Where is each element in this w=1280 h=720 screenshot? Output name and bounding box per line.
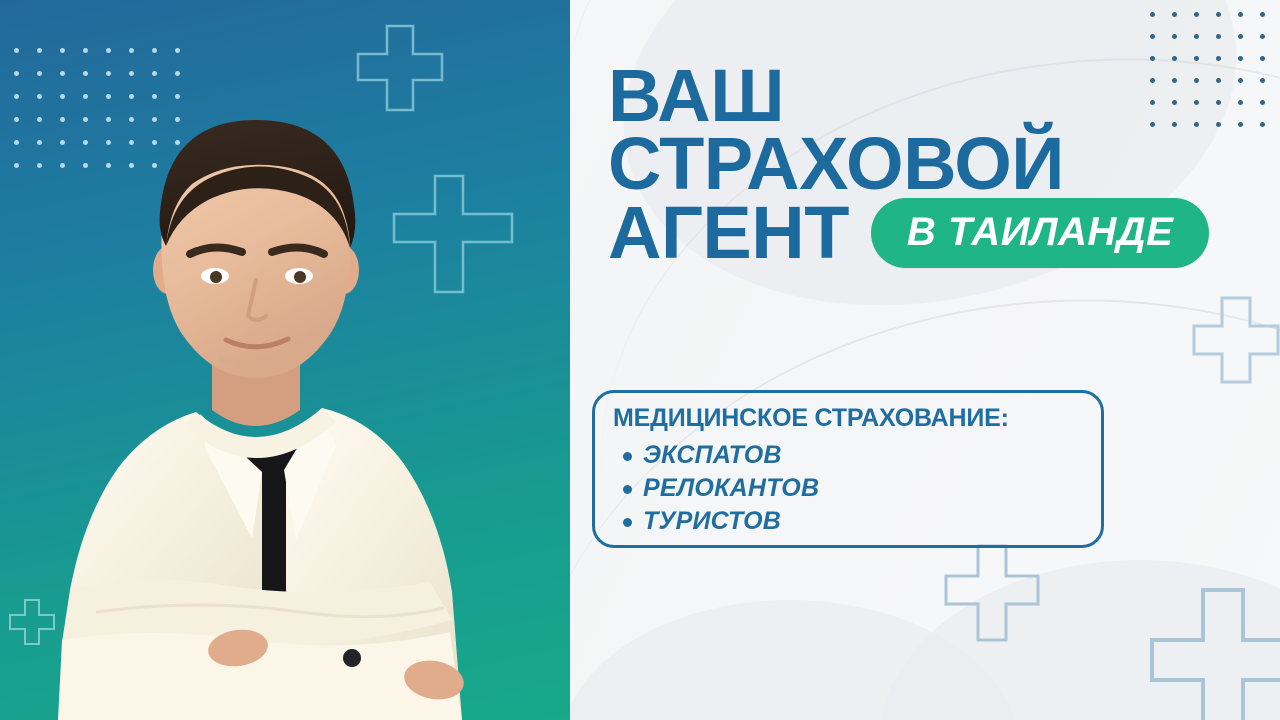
headline-line-3-row: АГЕНТ В ТАИЛАНДЕ xyxy=(608,198,1268,268)
plus-cross-icon xyxy=(942,542,1042,644)
dot xyxy=(1260,34,1265,39)
dot xyxy=(1238,34,1243,39)
dot xyxy=(1150,34,1155,39)
headline: ВАШ СТРАХОВОЙ АГЕНТ В ТАИЛАНДЕ xyxy=(608,62,1268,268)
dot xyxy=(1194,56,1199,61)
dot xyxy=(1194,34,1199,39)
dot xyxy=(1172,56,1177,61)
list-item: ТУРИСТОВ xyxy=(643,505,1083,538)
left-teal-panel xyxy=(0,0,570,720)
insurance-info-box: МЕДИЦИНСКОЕ СТРАХОВАНИЕ: ЭКСПАТОВ РЕЛОКА… xyxy=(592,390,1104,548)
headline-line-2: СТРАХОВОЙ xyxy=(608,130,1268,198)
dot xyxy=(1150,12,1155,17)
headline-line-3: АГЕНТ xyxy=(608,199,849,267)
plus-cross-icon xyxy=(1188,292,1280,388)
dot xyxy=(1216,12,1221,17)
plus-cross-icon xyxy=(1148,586,1280,720)
dot xyxy=(1194,12,1199,17)
insurance-audience-list: ЭКСПАТОВ РЕЛОКАНТОВ ТУРИСТОВ xyxy=(613,439,1083,539)
dot xyxy=(1260,12,1265,17)
agent-figure xyxy=(0,120,570,720)
info-box-title: МЕДИЦИНСКОЕ СТРАХОВАНИЕ: xyxy=(613,405,1083,433)
dot xyxy=(1216,56,1221,61)
dot xyxy=(1238,12,1243,17)
country-badge: В ТАИЛАНДЕ xyxy=(871,198,1209,268)
dot xyxy=(1216,34,1221,39)
dot xyxy=(1150,56,1155,61)
headline-line-1: ВАШ xyxy=(608,62,1268,130)
dot xyxy=(1260,56,1265,61)
dot xyxy=(1172,34,1177,39)
list-item: ЭКСПАТОВ xyxy=(643,439,1083,472)
dot xyxy=(1238,56,1243,61)
dot xyxy=(1172,12,1177,17)
agent-photo xyxy=(0,0,570,720)
promo-banner: ВАШ СТРАХОВОЙ АГЕНТ В ТАИЛАНДЕ МЕДИЦИНСК… xyxy=(0,0,1280,720)
list-item: РЕЛОКАНТОВ xyxy=(643,472,1083,505)
